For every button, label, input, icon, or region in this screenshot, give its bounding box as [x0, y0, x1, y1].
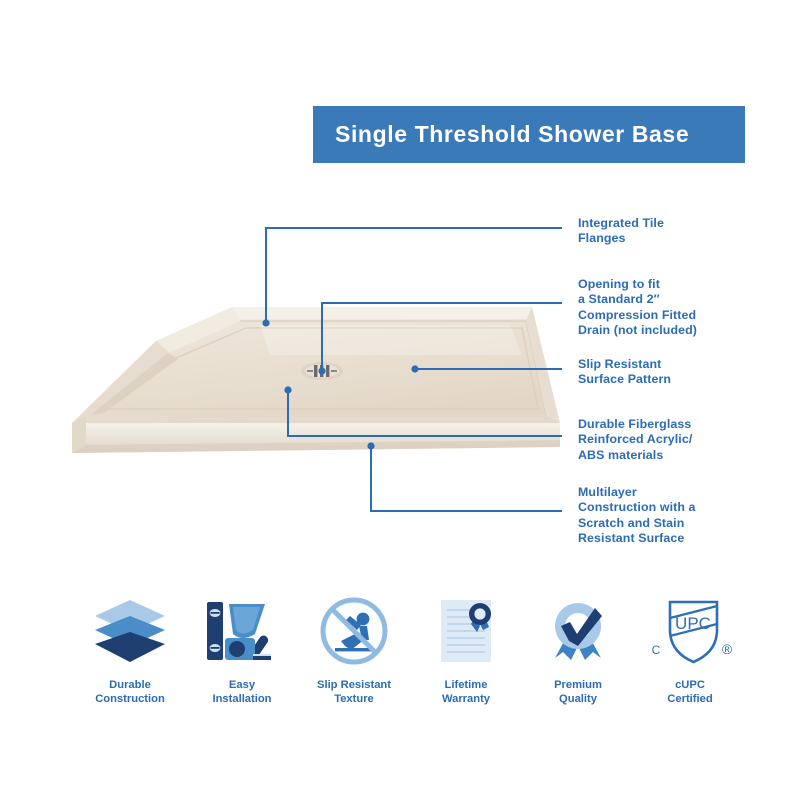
callout-label-drain-opening: Opening to fit a Standard 2″ Compression… [578, 277, 697, 339]
check-rosette-icon [539, 592, 617, 670]
drain-grate-bar [320, 365, 323, 377]
back-rim [232, 307, 532, 319]
feature-easy-installation: Easy Installation [186, 592, 298, 706]
no-slip-icon [315, 592, 393, 670]
shield-text: UPC [675, 614, 711, 633]
feature-lifetime-warranty: Lifetime Warranty [410, 592, 522, 706]
title-banner: Single Threshold Shower Base [313, 106, 745, 163]
drain-grate-bar [307, 370, 313, 372]
feature-label: Premium Quality [554, 678, 602, 706]
pan-sheen [260, 325, 522, 355]
shower-base-svg [60, 295, 580, 495]
drain-grate-bar [314, 365, 317, 377]
callout-label-multilayer-construction: Multilayer Construction with a Scratch a… [578, 485, 696, 547]
feature-durable-construction: Durable Construction [74, 592, 186, 706]
shower-base-illustration [60, 295, 580, 495]
drain-grate-bar [326, 365, 329, 377]
feature-label: Slip Resistant Texture [317, 678, 391, 706]
upc-shield-icon: UPC C ® [647, 592, 733, 670]
feature-label: Easy Installation [212, 678, 271, 706]
feature-cupc-certified: UPC C ® cUPC Certified [634, 592, 746, 706]
drain-grate-bar [331, 370, 337, 372]
feature-label: cUPC Certified [667, 678, 712, 706]
shield-left-mark: C [652, 643, 661, 657]
feature-slip-resistant-texture: Slip Resistant Texture [298, 592, 410, 706]
layers-icon [91, 592, 169, 670]
shield-right-mark: ® [722, 641, 733, 657]
feature-premium-quality: Premium Quality [522, 592, 634, 706]
tools-level-trowel-icon [203, 592, 281, 670]
feature-label: Lifetime Warranty [442, 678, 490, 706]
callout-label-integrated-tile-flanges: Integrated Tile Flanges [578, 216, 664, 247]
callout-label-slip-resistant-surface: Slip Resistant Surface Pattern [578, 357, 671, 388]
product-infographic: Single Threshold Shower Base [0, 0, 806, 806]
feature-row: Durable Construction [74, 592, 746, 717]
feature-label: Durable Construction [95, 678, 165, 706]
callout-label-durable-fiberglass: Durable Fiberglass Reinforced Acrylic/ A… [578, 417, 692, 463]
certificate-icon [427, 592, 505, 670]
page-title: Single Threshold Shower Base [313, 121, 689, 148]
